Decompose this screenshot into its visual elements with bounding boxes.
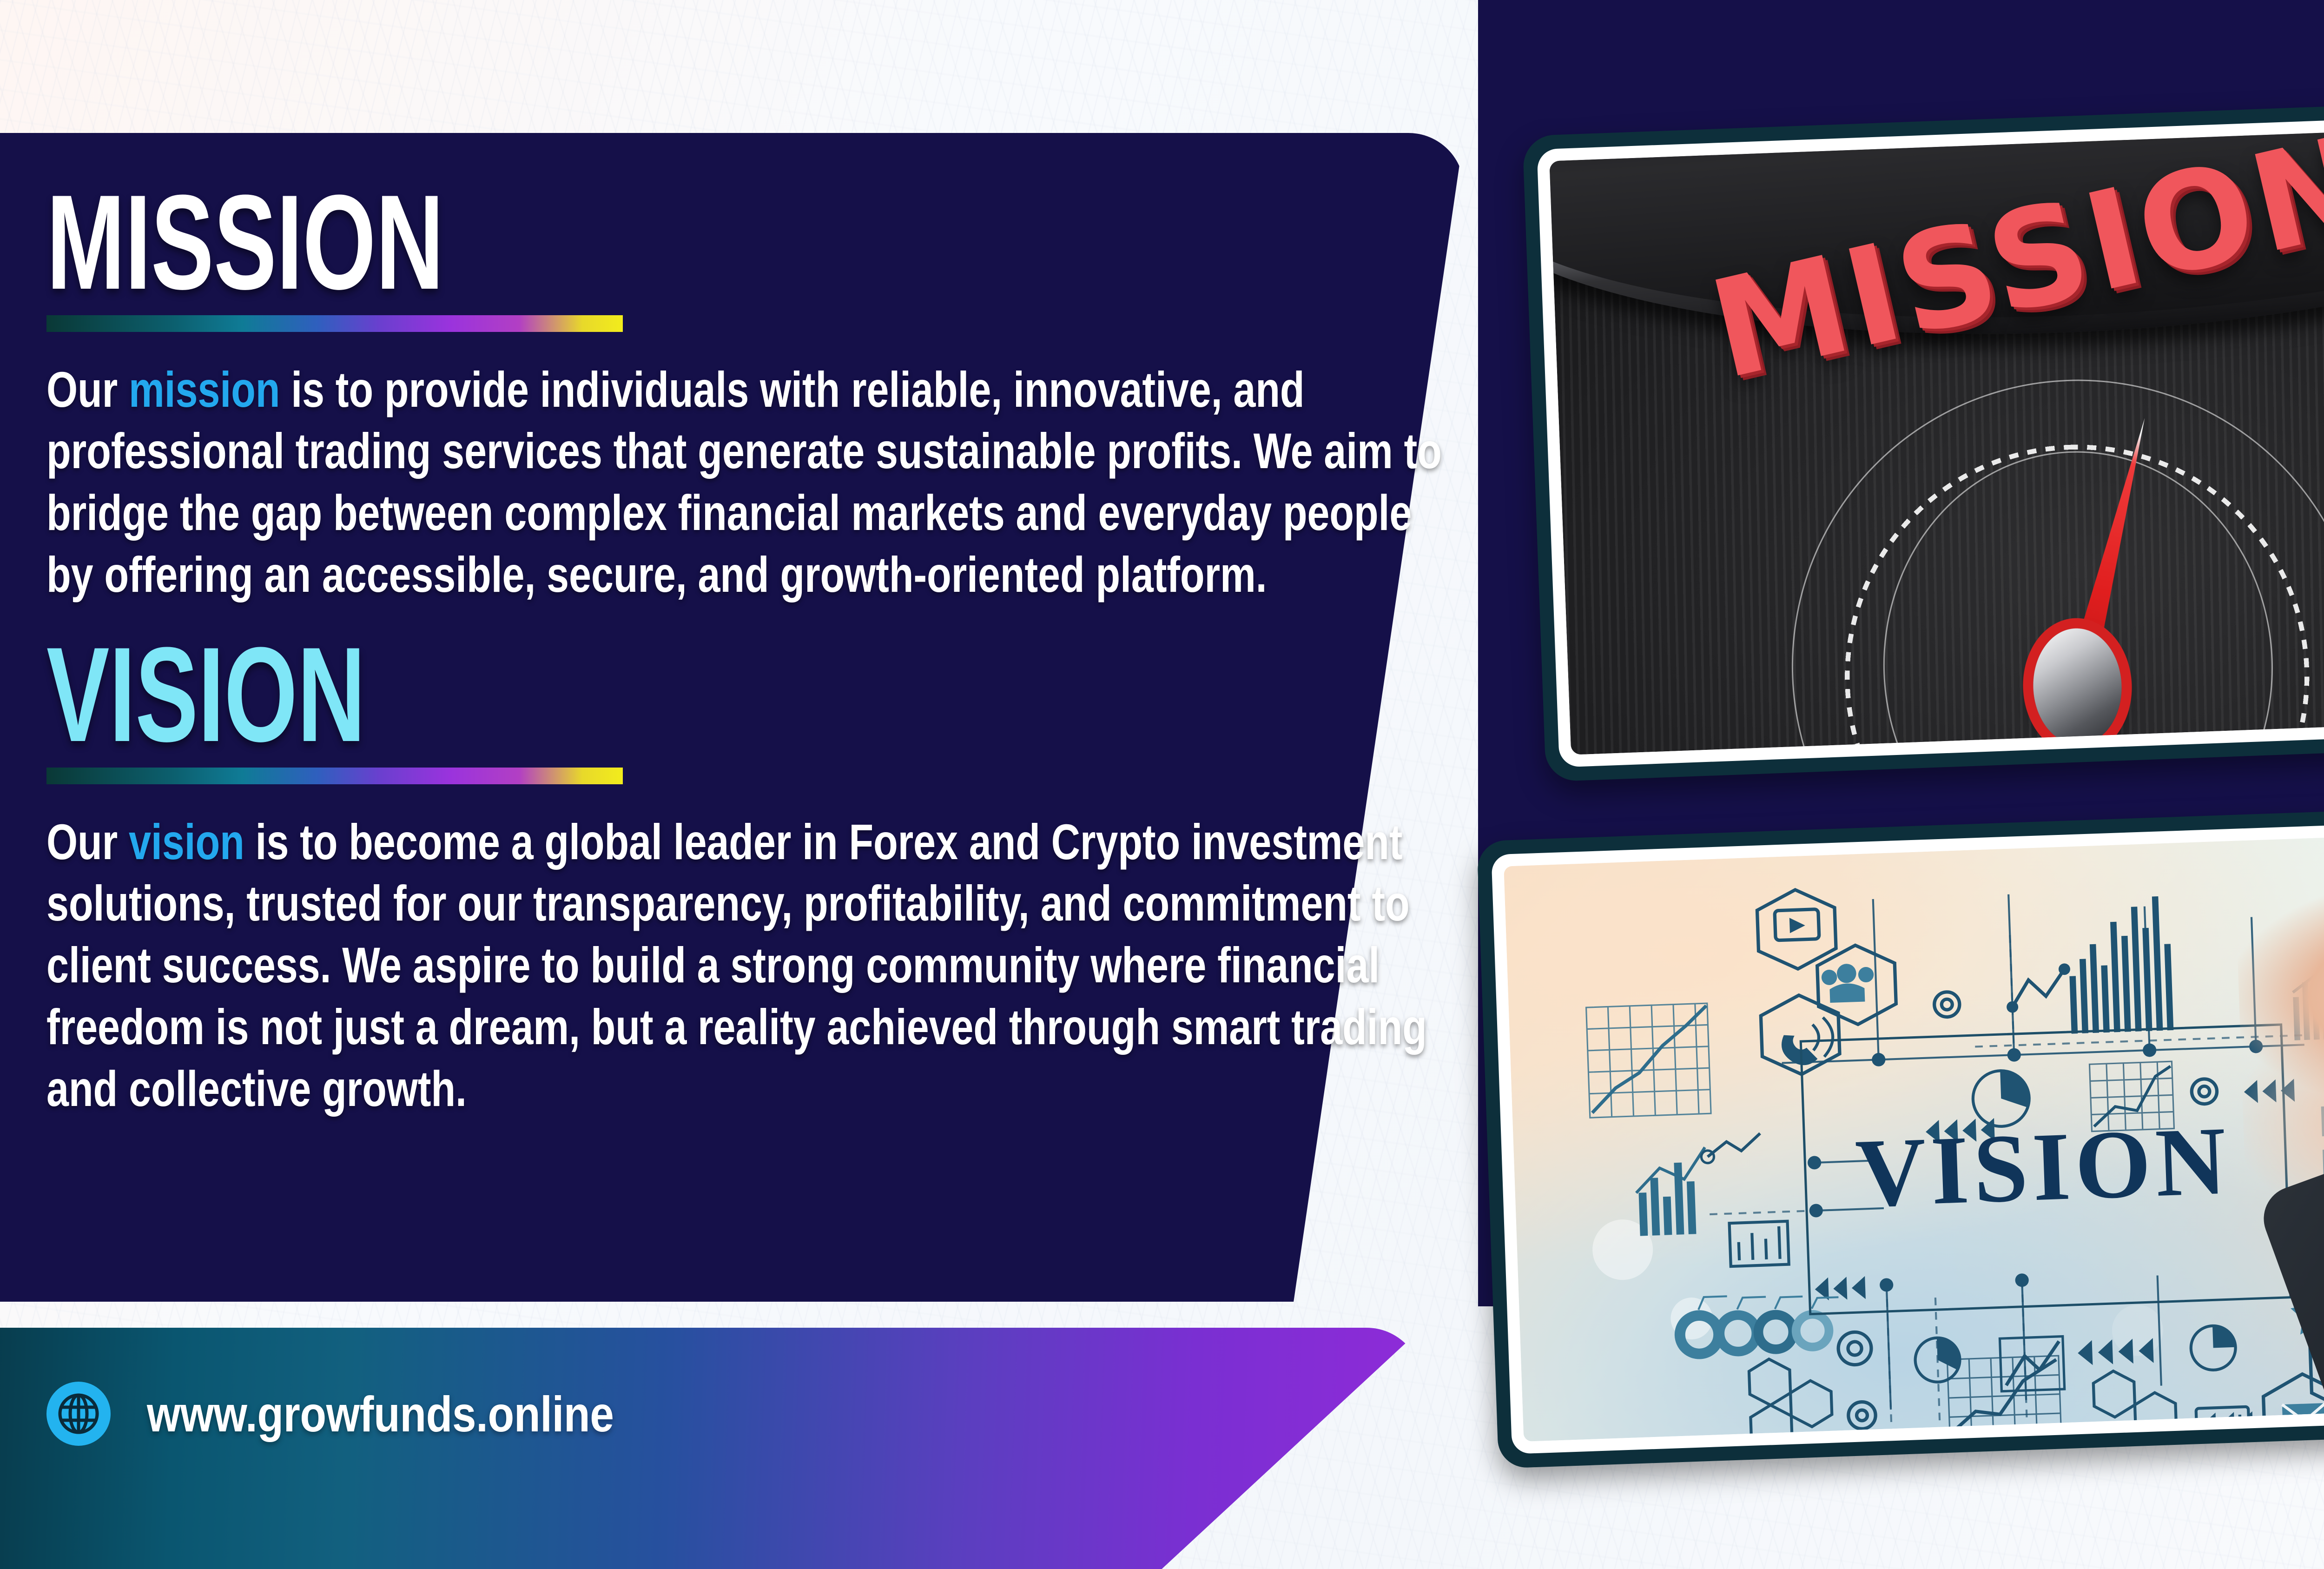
mission-paragraph-lead: Our xyxy=(46,361,129,417)
vision-infographic-icon: VISION xyxy=(1504,822,2324,1442)
globe-icon xyxy=(46,1382,111,1446)
page-title-vision: VISION xyxy=(46,638,1032,752)
poster-canvas: MISSION Our mission is to provide indivi… xyxy=(0,0,2324,1569)
vision-paragraph-lead: Our xyxy=(46,814,129,870)
vision-keyword: vision xyxy=(129,814,244,870)
vision-label-text: VISION xyxy=(1799,1024,2287,1311)
mission-keyword: mission xyxy=(129,361,280,417)
vision-paragraph-rest: is to become a global leader in Forex an… xyxy=(46,814,1427,1117)
text-content-column: MISSION Our mission is to provide indivi… xyxy=(46,186,1455,1120)
website-url[interactable]: www.growfunds.online xyxy=(147,1385,614,1443)
vision-image-card[interactable]: VISION xyxy=(1477,795,2324,1469)
mission-photo: MISSION xyxy=(1549,124,2324,755)
vision-paragraph: Our vision is to become a global leader … xyxy=(46,811,1452,1120)
footer-website-row[interactable]: www.growfunds.online xyxy=(46,1382,690,1446)
vision-card-white-frame: VISION xyxy=(1491,810,2324,1454)
page-title-mission: MISSION xyxy=(46,186,1032,299)
compass-icon: MISSION xyxy=(1549,124,2324,755)
mission-paragraph: Our mission is to provide individuals wi… xyxy=(46,359,1452,606)
mission-card-white-frame: MISSION xyxy=(1537,111,2324,767)
vision-photo: VISION xyxy=(1504,822,2324,1442)
mission-image-card[interactable]: MISSION xyxy=(1522,97,2324,781)
